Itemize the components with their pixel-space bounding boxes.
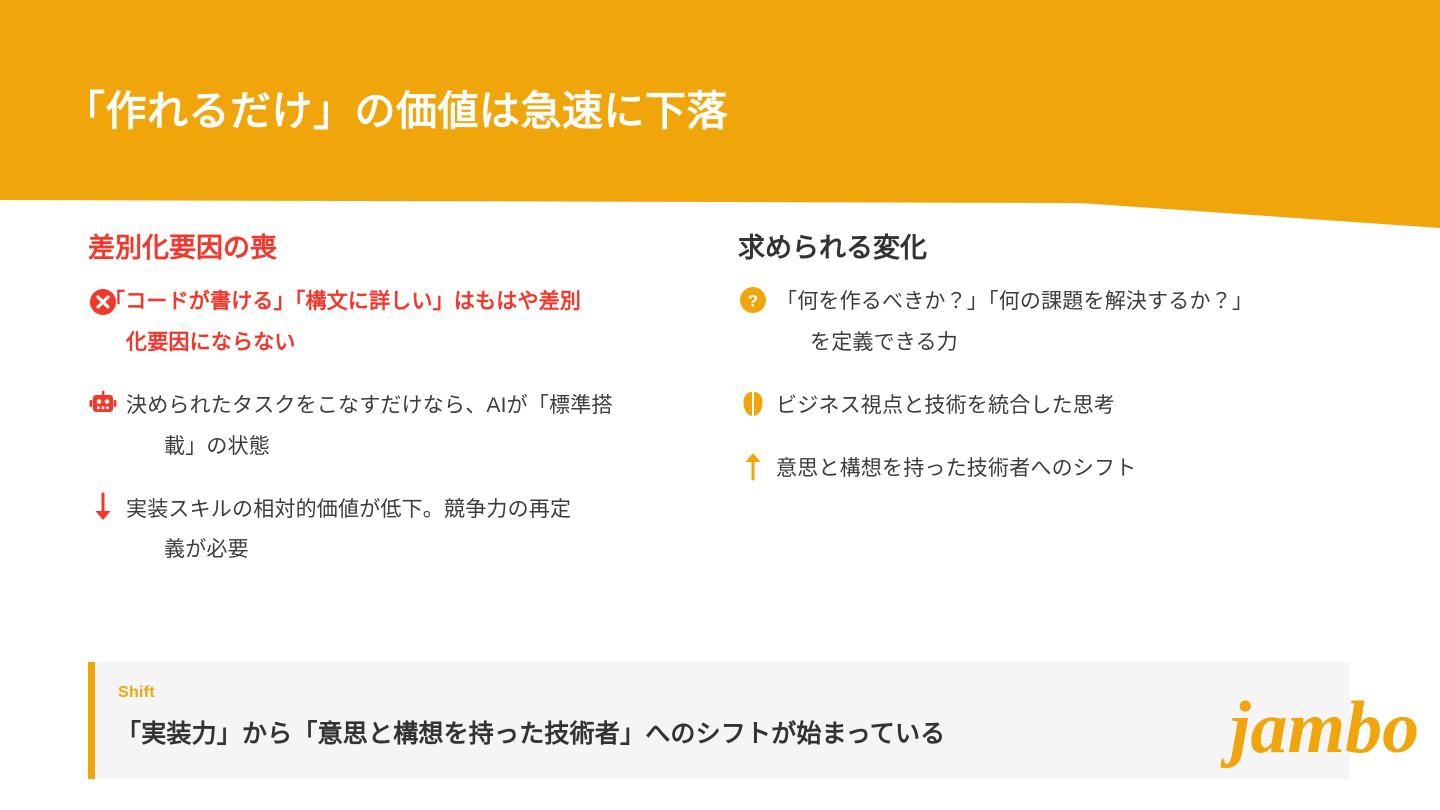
callout-accent-bar: [88, 662, 95, 779]
list-item: 意思と構想を持った技術者へのシフト: [738, 449, 1380, 490]
circle-question-icon: ?: [738, 282, 768, 318]
content-columns: 差別化要因の喪 「コードが書ける」「構文に詳しい」はもはや差別 化要因にならない: [0, 232, 1440, 593]
circle-x-icon: [88, 284, 118, 320]
slide-root: 「作れるだけ」の価値は急速に下落 差別化要因の喪 「コードが書ける」「構文に詳し…: [0, 0, 1440, 810]
arrow-down-icon: [88, 490, 118, 526]
list-item-line1: 決められたタスクをこなすだけなら、AIが「標準搭: [126, 394, 613, 417]
column-left-heading: 差別化要因の喪: [88, 232, 700, 266]
robot-icon: [88, 386, 118, 422]
list-item-line2: 載」の状態: [126, 427, 700, 468]
list-item: 実装スキルの相対的価値が低下。競争力の再定 義が必要: [88, 490, 700, 572]
callout-label: Shift: [118, 684, 155, 702]
list-item-text: 「コードが書ける」「構文に詳しい」はもはや差別 化要因にならない: [88, 282, 700, 364]
list-item-line1: ビジネス視点と技術を統合した思考: [776, 394, 1115, 417]
jambo-logo: jambo: [1230, 690, 1430, 778]
column-left-bullets: 「コードが書ける」「構文に詳しい」はもはや差別 化要因にならない: [88, 282, 700, 572]
list-item-text: 実装スキルの相対的価値が低下。競争力の再定 義が必要: [126, 490, 700, 572]
list-item: ビジネス視点と技術を統合した思考: [738, 386, 1380, 427]
column-right-heading: 求められる変化: [738, 232, 1380, 266]
list-item-text: 決められたタスクをこなすだけなら、AIが「標準搭 載」の状態: [126, 386, 700, 468]
svg-text:?: ?: [748, 291, 758, 310]
list-item-text: 「何を作るべきか？」「何の課題を解決するか？」 を定義できる力: [776, 282, 1380, 364]
column-right-bullets: ? 「何を作るべきか？」「何の課題を解決するか？」 を定義できる力: [738, 282, 1380, 490]
list-item-text: ビジネス視点と技術を統合した思考: [776, 386, 1380, 427]
column-left: 差別化要因の喪 「コードが書ける」「構文に詳しい」はもはや差別 化要因にならない: [0, 232, 720, 593]
page-title: 「作れるだけ」の価値は急速に下落: [64, 87, 728, 136]
shift-callout: Shift 「実装力」から「意思と構想を持った技術者」へのシフトが始まっている: [88, 662, 1350, 779]
callout-text: 「実装力」から「意思と構想を持った技術者」へのシフトが始まっている: [116, 714, 945, 750]
jambo-logo-text: jambo: [1220, 687, 1419, 769]
list-item-line2: 義が必要: [126, 530, 700, 571]
list-item-line1: 意思と構想を持った技術者へのシフト: [776, 457, 1136, 480]
list-item: 「コードが書ける」「構文に詳しい」はもはや差別 化要因にならない: [88, 282, 700, 364]
list-item-text: 意思と構想を持った技術者へのシフト: [776, 449, 1380, 490]
list-item-line1: 実装スキルの相対的価値が低下。競争力の再定: [126, 498, 571, 521]
list-item: ? 「何を作るべきか？」「何の課題を解決するか？」 を定義できる力: [738, 282, 1380, 364]
list-item: 決められたタスクをこなすだけなら、AIが「標準搭 載」の状態: [88, 386, 700, 468]
brain-icon: [738, 386, 768, 422]
list-item-line1: 「コードが書ける」「構文に詳しい」はもはや差別: [104, 290, 581, 313]
list-item-line2: を定義できる力: [776, 323, 1380, 364]
arrow-up-icon: [738, 449, 768, 485]
column-right: 求められる変化 ? 「何を作るべきか？」「何の課題を解決するか？」 を定義できる…: [720, 232, 1440, 593]
list-item-line1: 「何を作るべきか？」「何の課題を解決するか？」: [776, 290, 1253, 313]
list-item-line2: 化要因にならない: [104, 323, 700, 364]
